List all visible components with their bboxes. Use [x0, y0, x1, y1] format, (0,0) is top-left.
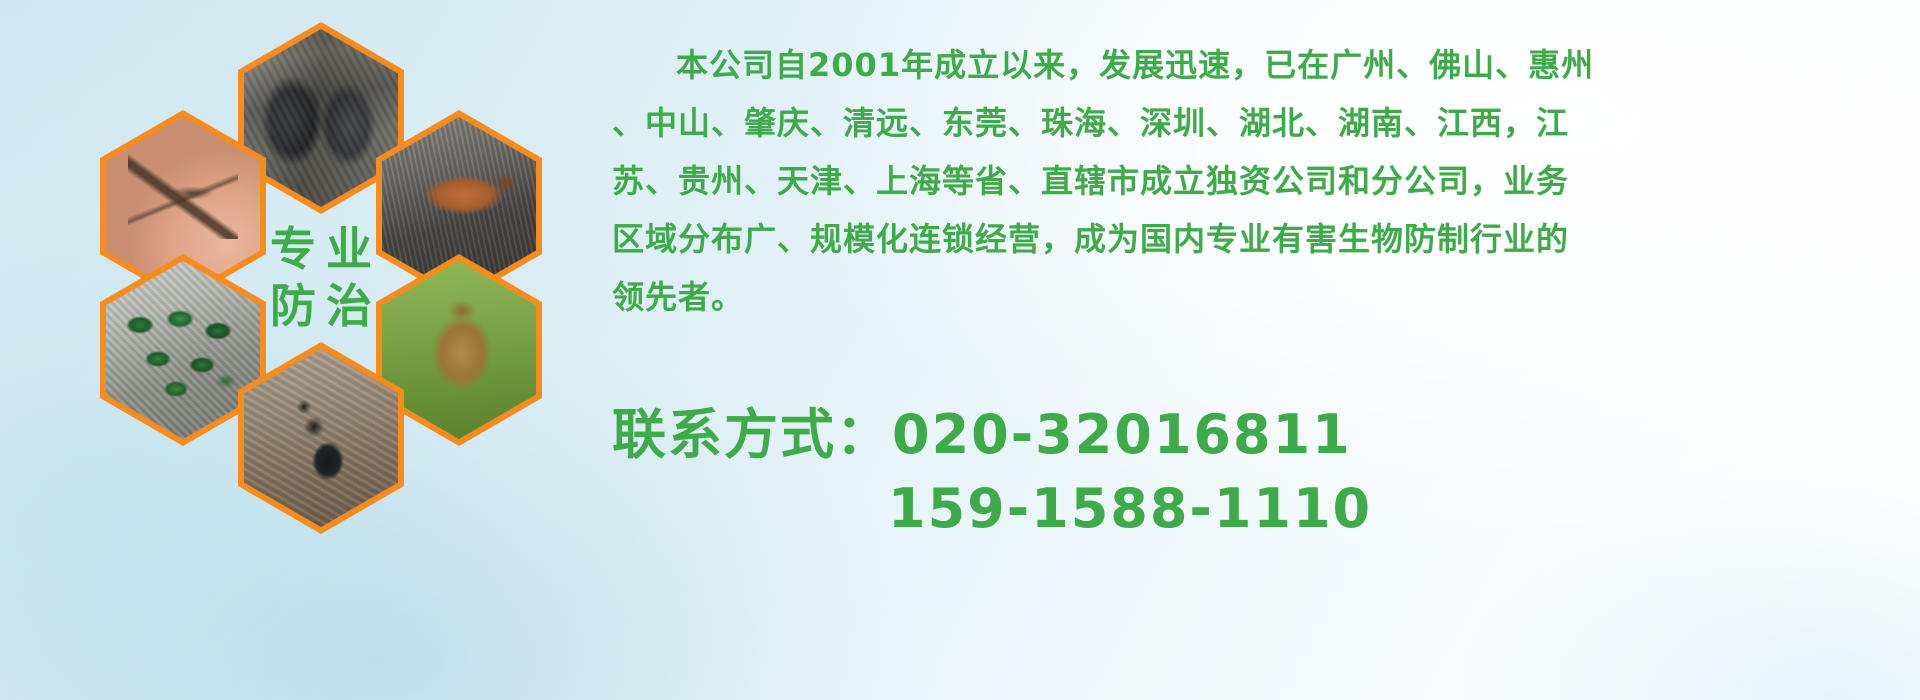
contact-phone-primary[interactable]: 联系方式：020-32016811	[612, 398, 1904, 472]
contact-phone-secondary[interactable]: 159-1588-1110	[612, 472, 1904, 546]
description-line-4: 区域分布广、规模化连锁经营，成为国内专业有害生物防制行业的	[612, 210, 1904, 268]
promo-banner: 专业 防治 本公司自2001年成立以来，发展迅速，已在广州、佛山、惠州 、中山、…	[0, 0, 1920, 700]
company-description: 本公司自2001年成立以来，发展迅速，已在广州、佛山、惠州 、中山、肇庆、清远、…	[612, 36, 1904, 326]
description-line-2: 、中山、肇庆、清远、东莞、珠海、深圳、湖北、湖南、江西，江	[612, 94, 1904, 152]
slogan-hexagon: 专业 防治	[236, 180, 406, 376]
contact-info: 联系方式：020-32016811 159-1588-1110	[612, 398, 1904, 546]
slogan-line-1: 专业	[260, 221, 382, 278]
slogan-line-2: 防治	[260, 278, 382, 335]
description-line-1: 本公司自2001年成立以来，发展迅速，已在广州、佛山、惠州	[612, 36, 1904, 94]
hexagon-photo-cluster: 专业 防治	[88, 12, 588, 572]
description-line-3: 苏、贵州、天津、上海等省、直辖市成立独资公司和分公司，业务	[612, 152, 1904, 210]
description-line-5: 领先者。	[612, 268, 1904, 326]
